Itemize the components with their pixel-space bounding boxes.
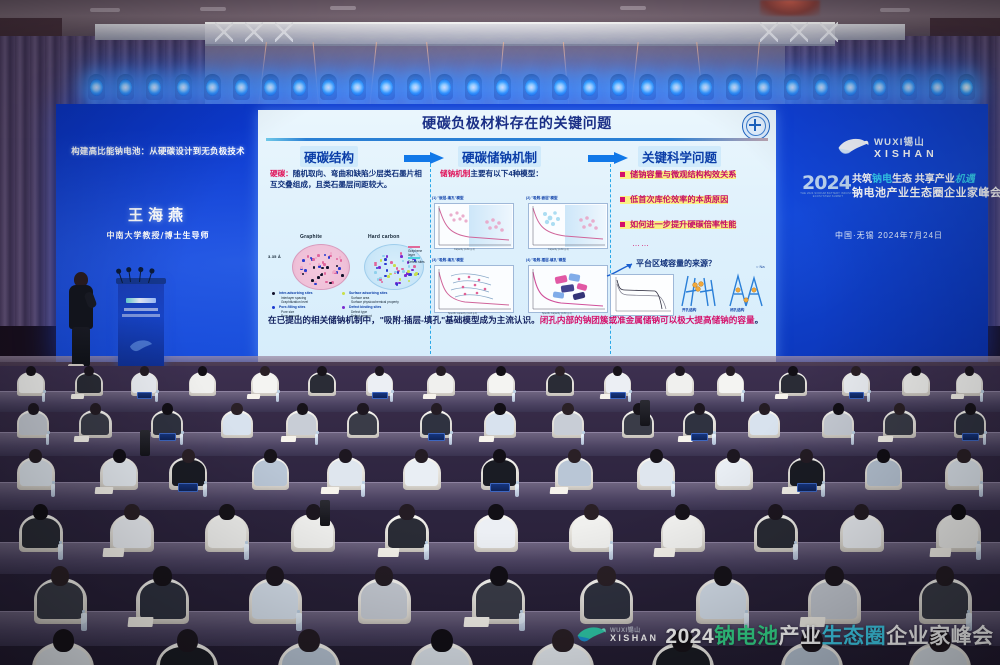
brand-xishan: XISHAN [874, 148, 938, 160]
audience-member [811, 566, 857, 617]
audience-torso [781, 374, 805, 393]
audience-torso [361, 582, 407, 619]
audience-torso [957, 374, 981, 393]
slide-divider [266, 138, 768, 141]
audience-head [177, 629, 199, 652]
atom-dot [399, 278, 402, 281]
audience-torso [548, 374, 572, 393]
audience-head [490, 566, 508, 586]
atom-dot [318, 263, 321, 266]
model-4-xlabel: Specific Capacity (mAh g-1) [542, 312, 572, 315]
water-bottle [979, 484, 983, 497]
stage-light [697, 74, 714, 100]
name-card [849, 392, 864, 399]
watermark-wuxi: WUXI锡山 [610, 628, 658, 634]
audience-member [700, 566, 746, 617]
stage-light [523, 74, 540, 100]
audience-torso [132, 374, 156, 393]
atom-dot [321, 267, 324, 270]
water-bottle [42, 393, 45, 403]
audience-head [727, 449, 740, 463]
atom-dot [398, 282, 401, 285]
notepad [128, 617, 154, 627]
audience-member [781, 366, 805, 392]
audience-member [22, 504, 60, 546]
year-2024: 2024 [802, 172, 851, 194]
atom-dot [396, 267, 399, 270]
water-bottle [515, 484, 519, 497]
atom-dot [400, 252, 403, 255]
audience-member [757, 504, 795, 546]
atom-dot [374, 264, 377, 267]
model-1-label: (1) "嵌层-填孔"模型 [432, 196, 464, 201]
label-hard-carbon: Hard carbon [368, 234, 400, 240]
audience-head [415, 449, 428, 463]
audience-head [113, 449, 126, 463]
truss-brace [275, 22, 293, 42]
name-card [962, 433, 979, 441]
atom-dot [400, 255, 403, 258]
audience-head [162, 403, 173, 415]
question-bullet-3: 如何进一步提升硬碳倍率性能 [620, 219, 736, 230]
notepad [423, 394, 437, 399]
figure-graphite-vs-hardcarbon: Graphite Hard carbon 3.35 Å 3.7-4.0 Å Gr… [268, 230, 428, 318]
water-bottle [315, 434, 319, 445]
audience-head [28, 403, 39, 415]
stage-light [726, 74, 743, 100]
audience-member [36, 629, 90, 665]
stage-light [610, 74, 627, 100]
audience-head [894, 403, 905, 415]
audience-head [153, 566, 171, 586]
name-card [159, 433, 176, 441]
audience-torso [824, 413, 852, 435]
stage-light [900, 74, 917, 100]
audience-head [317, 366, 327, 376]
audience-member [719, 366, 743, 392]
ellipsis: …… [632, 239, 770, 248]
notepad [951, 394, 965, 399]
audience-head [568, 449, 581, 463]
open-pore-diagram [678, 272, 718, 308]
atom-dot [314, 283, 317, 286]
audience-member [477, 504, 515, 546]
model-2-chart [528, 203, 608, 249]
stage-light [668, 74, 685, 100]
audience-head [825, 566, 843, 586]
audience-torso [388, 518, 426, 549]
audience-torso [844, 374, 868, 393]
audience-member [584, 566, 630, 617]
audience-member [843, 504, 881, 546]
audience-member [572, 504, 610, 546]
audience-member [489, 366, 513, 392]
university-seal-icon [742, 112, 770, 140]
stage-light [755, 74, 772, 100]
stage-light [175, 74, 192, 100]
audience-member [252, 566, 298, 617]
audience-torso [811, 582, 857, 619]
audience-torso [477, 518, 515, 549]
water-bottle [980, 393, 983, 403]
audience-member [19, 366, 43, 392]
audience-member [368, 366, 392, 392]
audience-torso [700, 582, 746, 619]
audience-torso [489, 374, 513, 393]
legend-dot-surface [342, 292, 345, 295]
model-3-label: (3) "吸附-填孔"模型 [432, 258, 464, 263]
podium-text-line-1 [124, 308, 158, 311]
atom-dot [331, 281, 334, 284]
na-label: ○ Na [756, 264, 765, 269]
water-bottle [276, 393, 279, 403]
audience-member [103, 449, 136, 485]
atom-dot [411, 269, 414, 272]
audience-head [613, 366, 623, 376]
audience-head [51, 566, 69, 586]
stage-light [958, 74, 975, 100]
audience-torso [37, 582, 83, 619]
water-bottle [58, 544, 63, 559]
audience-member [153, 403, 181, 434]
audience-head [965, 366, 975, 376]
stage-light [88, 74, 105, 100]
audience-torso [939, 518, 977, 549]
stage-light [291, 74, 308, 100]
atom-dot [393, 264, 396, 267]
audience-head [431, 629, 453, 652]
audience-member [254, 449, 287, 485]
atom-dot [402, 260, 405, 263]
water-bottle [512, 393, 515, 403]
atom-dot [302, 259, 305, 262]
slogan: 共筑钠电生态 共享产业机遇 [852, 170, 975, 185]
notepad [464, 617, 490, 627]
audience-member [548, 366, 572, 392]
atom-dot [341, 274, 344, 277]
notepad [775, 394, 789, 399]
atom-dot [415, 272, 418, 275]
audience-head [198, 366, 208, 376]
audience-member [885, 403, 913, 434]
audience-member [388, 504, 426, 546]
atom-dot [338, 267, 341, 270]
audience-head [494, 403, 505, 415]
audience-head [298, 629, 320, 652]
audience-torso [310, 374, 334, 393]
audience-torso [405, 460, 438, 486]
water-bottle [155, 393, 158, 403]
atom-dot [402, 270, 405, 273]
audience-head [493, 449, 506, 463]
watermark-fish-icon [576, 622, 608, 648]
atom-dot [311, 279, 314, 282]
water-bottle [821, 484, 825, 497]
stage-light [813, 74, 830, 100]
audience-torso [948, 460, 981, 486]
stage-light [320, 74, 337, 100]
atom-dot [397, 271, 400, 274]
spacing-graphite: 3.35 Å [268, 254, 281, 259]
stage-light [117, 74, 134, 100]
audience-member [640, 449, 673, 485]
atom-dot [374, 271, 377, 274]
audience-torso [140, 582, 186, 619]
talk-title: 构建高比能钠电池：从硬碳设计到无负极技术 [64, 146, 252, 157]
stage-light [581, 74, 598, 100]
podium-text-line-2 [122, 314, 160, 317]
audience-torso [429, 374, 453, 393]
conference-photo: 构建高比能钠电池：从硬碳设计到无负极技术 王海燕 中南大学教授/博士生导师 WU… [0, 0, 1000, 665]
water-bottle [449, 434, 453, 445]
audience-member [140, 566, 186, 617]
audience-torso [922, 582, 968, 619]
audience-member [429, 366, 453, 392]
plateau-chart [610, 274, 674, 316]
water-bottle [361, 484, 365, 497]
stage-light [842, 74, 859, 100]
atom-dot [313, 266, 316, 269]
audience-head [124, 504, 139, 520]
model-1-xlabel: Capacity (mAh g-1) [454, 248, 475, 251]
stage-light [929, 74, 946, 100]
open-pore-label: 开孔结构 [682, 308, 696, 313]
audience-head [957, 449, 970, 463]
atom-dot [333, 270, 336, 273]
atom-dot [396, 283, 399, 286]
audience-member [422, 403, 450, 434]
notepad [878, 436, 894, 442]
water-bottle [983, 434, 987, 445]
model-3-xlabel: Specific capacity (mAh g-1) [448, 312, 477, 315]
audience-head [714, 566, 732, 586]
model-2-xlabel: Capacity (mAh g-1) [548, 248, 569, 251]
water-bottle [51, 484, 55, 497]
closed-pore-label: 闭孔结构 [730, 308, 744, 313]
water-bottle [867, 393, 870, 403]
audience-member [37, 566, 83, 617]
name-card [797, 483, 817, 492]
atom-dot [325, 281, 328, 284]
audience-head [375, 566, 393, 586]
audience-head [357, 403, 368, 415]
ceiling-light [90, 8, 120, 12]
closed-pore-diagram [726, 272, 766, 308]
legend-defect-item-2: Defect amount [351, 314, 372, 318]
atom-dot [330, 252, 333, 255]
stage-light [233, 74, 250, 100]
audience-head [436, 366, 446, 376]
model-3-chart [434, 265, 514, 313]
led-right-banner: WUXI锡山 XISHAN 2024 THE 2024 SODIUM BATTE… [790, 108, 988, 364]
notepad [653, 548, 675, 557]
audience-member [668, 366, 692, 392]
audience-torso [22, 518, 60, 549]
audience-member [717, 449, 750, 485]
audience-torso [113, 518, 151, 549]
audience-torso [904, 374, 928, 393]
column-heading-structure: 硬碳结构 [300, 146, 358, 167]
audience-head [788, 366, 798, 376]
arrow-right-icon [404, 152, 446, 165]
water-bottle [581, 434, 585, 445]
audience-member [223, 403, 251, 434]
presenter [66, 272, 96, 368]
stage-light [378, 74, 395, 100]
truss-brace [760, 22, 778, 42]
watermark-xishan: XISHAN [610, 634, 658, 643]
audience-head [726, 366, 736, 376]
audience-member [483, 449, 516, 485]
audience-member [867, 449, 900, 485]
audience-head [650, 449, 663, 463]
audience-member [939, 504, 977, 546]
atom-dot [309, 263, 312, 266]
left-column-text: 硬碳：随机取向、弯曲和缺陷少层类石墨片相互交叠组成，且类石墨层间距较大。 [270, 168, 422, 190]
question-bullet-1: 储钠容量与微观结构构效关系 [620, 169, 736, 180]
audience-head [877, 449, 890, 463]
brand-wuxi: WUXI锡山 [874, 134, 938, 148]
name-card [178, 483, 198, 492]
stage-light [465, 74, 482, 100]
lighting-truss [205, 22, 835, 46]
thermos-cup [320, 500, 330, 526]
audience-head [584, 504, 599, 520]
audience-head [306, 504, 321, 520]
audience-head [911, 366, 921, 376]
atom-dot [374, 262, 377, 265]
audience-torso [103, 460, 136, 486]
audience-member [750, 403, 778, 434]
audience-torso [253, 374, 277, 393]
legend-graphene-layer: Graphene layer [408, 249, 428, 257]
audience-member [160, 629, 214, 665]
atom-dot [307, 255, 310, 258]
audience-torso [288, 413, 316, 435]
audience-head [297, 403, 308, 415]
truss-brace [215, 22, 233, 42]
audience-member [253, 366, 277, 392]
audience-head [552, 629, 574, 652]
name-card [372, 392, 387, 399]
stage-light [349, 74, 366, 100]
audience-torso [668, 374, 692, 393]
legend-swatch-defect [408, 257, 420, 259]
atom-dot [409, 273, 412, 276]
atom-dot [382, 255, 385, 258]
podium [118, 282, 164, 368]
atom-dot [300, 266, 303, 269]
audience-member [554, 403, 582, 434]
speaker-name: 王海燕 [60, 204, 256, 225]
plateau-question: 平台区域容量的来源？ [636, 258, 716, 269]
figure-plateau-origin: 平台区域容量的来源？ [606, 258, 774, 320]
figure-four-models: (1) "嵌层-填孔"模型 Capacity (mAh g-1) (2) "吸附… [432, 196, 608, 318]
truss-brace [790, 22, 808, 42]
audience-member [20, 449, 53, 485]
atom-dot [384, 258, 387, 261]
chandelier [760, 0, 820, 16]
atom-dot [317, 276, 320, 279]
audience-head [488, 504, 503, 520]
stage-light [204, 74, 221, 100]
name-card [691, 433, 708, 441]
audience-torso [843, 518, 881, 549]
name-card [490, 483, 510, 492]
ceiling-light [620, 6, 646, 10]
atom-dot [413, 265, 416, 268]
stage-light [436, 74, 453, 100]
audience-torso [554, 413, 582, 435]
atom-dot [317, 254, 320, 257]
podium-top [116, 278, 166, 284]
audience-member [663, 504, 701, 546]
truss-wing-left [95, 24, 205, 40]
audience-torso [19, 374, 43, 393]
audience-head [375, 366, 385, 376]
audience-head [694, 403, 705, 415]
audience-torso [606, 374, 630, 393]
model-4-label: (4) "吸附-插层-填孔"模型 [526, 258, 566, 263]
audience-torso [77, 374, 101, 393]
atom-dot [390, 261, 393, 264]
audience-member [349, 403, 377, 434]
ceiling-light [880, 8, 910, 12]
slide-title: 硬碳负极材料存在的关键问题 [258, 113, 776, 133]
audience-torso [20, 460, 53, 486]
audience-member [288, 403, 316, 434]
water-bottle [424, 544, 429, 559]
audience-head [965, 403, 976, 415]
atom-dot [336, 258, 339, 261]
water-bottle [244, 544, 249, 559]
audience-torso [757, 518, 795, 549]
audience-head [90, 403, 101, 415]
audience-head [266, 566, 284, 586]
audience-head [140, 366, 150, 376]
atom-dot [324, 254, 327, 257]
audience-member [361, 566, 407, 617]
model-1-chart [434, 203, 514, 249]
water-bottle [46, 434, 50, 445]
atom-dot [378, 266, 381, 269]
legend-defect-title: Defect binding sites [349, 305, 381, 309]
audience-member [844, 366, 868, 392]
speaker-affiliation: 中南大学教授/博士生导师 [60, 230, 256, 241]
audience-member [208, 504, 246, 546]
legend-dot-pore [272, 306, 275, 309]
atom-dot [328, 256, 331, 259]
fish-logo-icon [836, 134, 870, 160]
audience-member [172, 449, 205, 485]
thermos-cup [140, 430, 150, 456]
ceiling-light [200, 7, 226, 11]
water-bottle [609, 544, 614, 559]
notepad [103, 548, 125, 557]
atom-dot [340, 259, 343, 262]
audience-member [190, 366, 214, 392]
audience-head [84, 366, 94, 376]
audience-head [675, 366, 685, 376]
question-bullet-2: 低首次库伦效率的本质原因 [620, 194, 728, 205]
audience-head [833, 403, 844, 415]
notepad [71, 394, 85, 399]
audience-member [415, 629, 469, 665]
audience-torso [558, 460, 591, 486]
stage-light [407, 74, 424, 100]
legend-surface-item-2: Surface physicochemical property [351, 300, 399, 304]
model-2-label: (2) "吸附-嵌层"模型 [526, 196, 558, 201]
